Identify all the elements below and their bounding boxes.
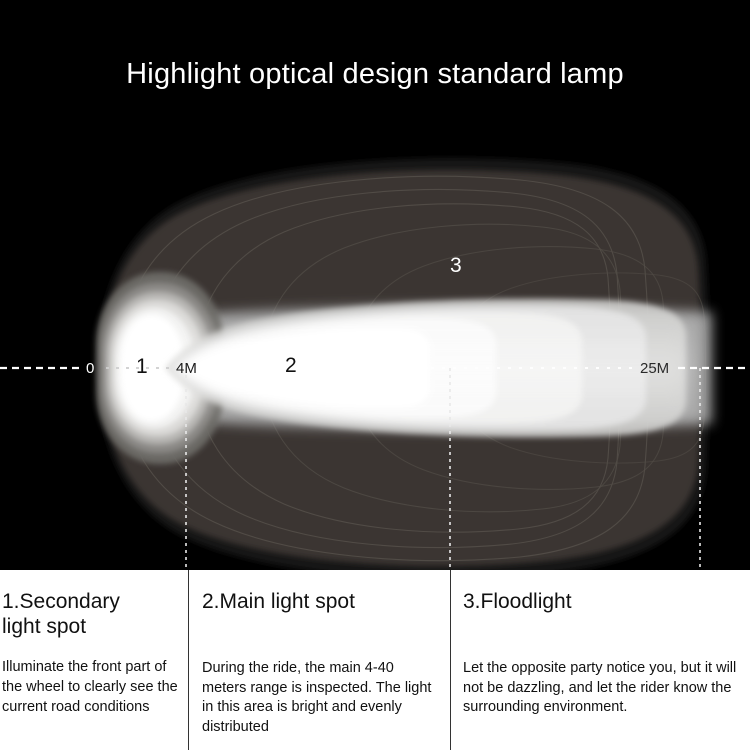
caption-column-floodlight: 3.Floodlight Let the opposite party noti… — [458, 570, 750, 750]
caption-body-1: Illuminate the front part of the wheel t… — [2, 658, 178, 717]
caption-heading-3: 3.Floodlight — [463, 589, 744, 614]
axis-label-origin: 0 — [86, 361, 94, 376]
beam-glow-overlay — [170, 322, 690, 414]
diagram-stage: Highlight optical design standard lamp — [0, 0, 750, 570]
axis-label-4m: 4M — [176, 361, 197, 376]
caption-column-main-light-spot: 2.Main light spot During the ride, the m… — [196, 570, 446, 750]
caption-divider-1 — [188, 570, 189, 750]
caption-heading-2: 2.Main light spot — [202, 589, 440, 614]
caption-body-3: Let the opposite party notice you, but i… — [463, 659, 744, 718]
caption-heading-1: 1.Secondary light spot — [2, 589, 178, 639]
beam-pattern-graphic — [0, 0, 750, 570]
caption-band: 1.Secondary light spot Illuminate the fr… — [0, 570, 750, 750]
zone-number-2: 2 — [285, 355, 297, 376]
zone-number-1: 1 — [136, 356, 148, 377]
axis-label-25m: 25M — [640, 361, 669, 376]
caption-body-2: During the ride, the main 4-40 meters ra… — [202, 659, 440, 737]
caption-column-secondary-light-spot: 1.Secondary light spot Illuminate the fr… — [0, 570, 186, 750]
caption-divider-2 — [450, 570, 451, 750]
zone-number-3: 3 — [450, 255, 462, 276]
lamp-beam-infographic: Highlight optical design standard lamp — [0, 0, 750, 750]
